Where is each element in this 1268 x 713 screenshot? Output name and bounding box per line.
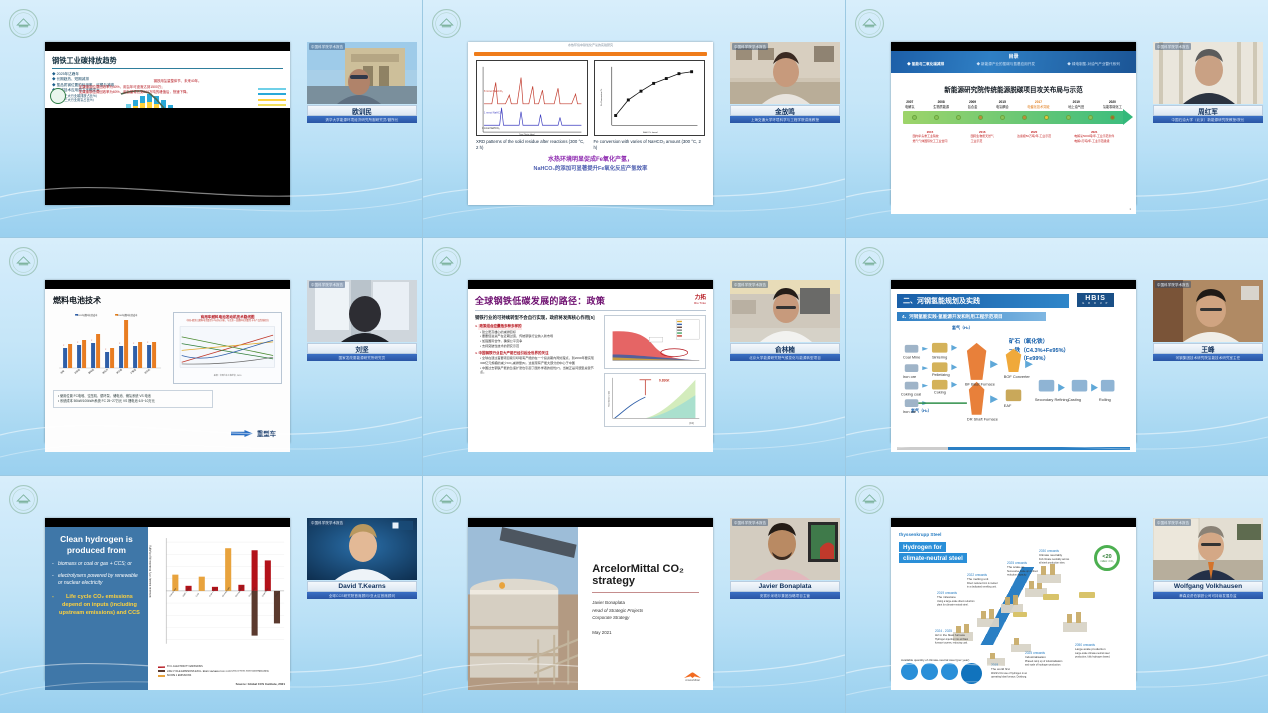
slide-columns: 2020年燃料电池成本2030年燃料电池成本 (53, 312, 282, 384)
speaker-name: 王峰 (1153, 343, 1263, 354)
speaker-affiliation: 国家发改委能源研究所研究员 (307, 354, 417, 361)
svg-text:Steel Demand (Gt): Steel Demand (Gt) (608, 390, 611, 406)
slide-figures: 8 mmol NaHCO₃ 1 mmol NaHCO₃ 0 mmol NaHCO… (468, 56, 713, 136)
svg-text:Coking coal: Coking coal (901, 391, 921, 396)
svg-text:Fe Conversion /%: Fe Conversion /% (600, 89, 603, 106)
svg-text:2: 2 (133, 343, 135, 345)
slide-frame[interactable]: 燃料电池技术 2020年燃料电池成本2030年燃料电池成本 (45, 280, 290, 443)
slide-content: Clean hydrogen is produced from biomass … (45, 527, 290, 690)
university-seal-watermark (854, 484, 885, 515)
university-seal-watermark (854, 8, 885, 39)
slide-figure-column: 0.83Gt Steel Demand (Gt) [13] (604, 315, 706, 431)
video-watermark: 中国科学院学术报告 (309, 519, 345, 526)
video-watermark: 中国科学院学术报告 (732, 281, 768, 288)
author-role: Head of Strategic Projects (592, 607, 699, 615)
speaker-video-tile[interactable]: 中国科学院学术报告 (730, 42, 840, 104)
slide-frame[interactable]: 水热环境中铁氧化产氢的实验研究 8 mmol NaHCO₃ 1 mmol NaH… (468, 42, 713, 205)
slide-page-number: 1 (1129, 207, 1131, 211)
bullet: biomass or coal or gas + CCS; or (52, 561, 141, 569)
timeline-notes: 2015国内牵头重工业院校燃气气体国际化工工业合同 2016国际生物质天然气工业… (891, 124, 1136, 143)
slide-frame[interactable]: Clean hydrogen is produced from biomass … (45, 518, 290, 681)
speaker-name: Javier Bonaplata (730, 581, 840, 592)
chip (921, 663, 938, 680)
timeline-year: 2007电解氢 (905, 100, 915, 109)
svg-text:Sintering: Sintering (932, 354, 947, 359)
slide-content: ArcelorMittal CO₂ strategy Javier Bonapl… (468, 527, 713, 690)
emissions-area-chart (604, 315, 706, 369)
slide-title: 新能源研究院传统能源脱碳项目攻关布局与示范 (891, 84, 1136, 94)
slide-content: 水热环境中铁氧化产氢的实验研究 8 mmol NaHCO₃ 1 mmol NaH… (468, 42, 713, 205)
university-seal-watermark (431, 246, 462, 277)
svg-text:DR Shaft Furnace: DR Shaft Furnace (967, 417, 998, 422)
svg-text:operating blast furnace, Duisb: operating blast furnace, Duisburg. (991, 676, 1027, 679)
speaker-affiliation: 安赛乐米塔尔集团战略项目主管 (730, 592, 840, 599)
panel-p4[interactable]: 燃料电池技术 2020年燃料电池成本2030年燃料电池成本 (0, 238, 423, 476)
svg-text:The world first: The world first (991, 667, 1010, 671)
svg-text:电堆: 电堆 (59, 368, 66, 374)
video-watermark: 中国科学院学术报告 (1155, 519, 1191, 526)
speaker-video-tile[interactable]: 中国科学院学术报告 (1153, 42, 1263, 104)
svg-text:Coal Mine: Coal Mine (903, 354, 920, 359)
svg-text:Secondary Refining: Secondary Refining (1035, 397, 1069, 402)
timeline-year: 2020氢能零碳化工 (1103, 100, 1122, 109)
slide-frame[interactable]: 二、河钢氢能规划及实践 HBIS G R O U P 4．河钢氢能实践-氢能源开… (891, 280, 1136, 443)
panel-p3[interactable]: 目录 氢能与二氧化碳减排 新能源产业的氢碳与氢基应用开发 绿电制氢-对油气产业替… (846, 0, 1268, 238)
slide-body: 钢铁行业的可持续转型不会自行实现，政府将发挥核心作用[5] 政策组合应囊括多种多… (475, 315, 706, 431)
video-watermark: 中国科学院学术报告 (1155, 281, 1191, 288)
speaker-affiliation: 蒂森克虏伯钢铁公司可持续发展总监 (1153, 592, 1263, 599)
speaker-affiliation: 中国石油大学（北京）新能源研究院教授/院长 (1153, 116, 1263, 123)
section-head: 政策组合应囊括多种多样的 (478, 324, 522, 329)
video-watermark: 中国科学院学术报告 (732, 43, 768, 50)
chip (961, 663, 982, 684)
chart-legend: FULL ELECTRICITY EMISSIONS LIFE CYCLE EM… (158, 665, 269, 679)
subsection-title: 4．河钢氢能实践-氢能源开发和利用工程示范项目 (897, 312, 1046, 321)
timeline-year: 2008生物质能源 (933, 100, 949, 109)
panel-p1[interactable]: 钢铁工业碳排放趋势 2025年达峰年 长期趋热、短期减排 氢品质钢位置的利用率、… (0, 0, 423, 238)
speaker-name: 周红军 (1153, 105, 1263, 116)
speaker-video-tile[interactable]: 中国科学院学术报告 (307, 280, 417, 342)
speaker-affiliation: 北京大学能源研究院气候变化与能源转型项目 (730, 354, 840, 361)
svg-text:all steel production sites.: all steel production sites. (1039, 562, 1066, 565)
svg-text:production, fully hydrogen bas: production, fully hydrogen based. (1075, 656, 1111, 659)
speaker-name: 俞林楠 (730, 343, 840, 354)
process-flow-diagram: 氢气（H₂） 矿石（氧化铁） 一铁（C4.3%+Fe95%） 一钢（Fe99%）… (897, 324, 1130, 424)
chart-annotation: 0.83Gt (659, 379, 670, 383)
svg-text:in a dedicated smelting unit.: in a dedicated smelting unit. (967, 586, 997, 589)
section-title: 二、河钢氢能规划及实践 (897, 294, 1069, 308)
svg-text:plant for climate-neutral stee: plant for climate-neutral steel. (937, 604, 969, 607)
video-watermark: 中国科学院学术报告 (309, 281, 345, 288)
video-watermark: 中国科学院学术报告 (309, 43, 345, 50)
slide-frame[interactable]: ArcelorMittal CO₂ strategy Javier Bonapl… (468, 518, 713, 681)
svg-text:2: 2 (105, 349, 107, 351)
menu-title: 目录 (891, 53, 1136, 60)
svg-text:reduction capacity.: reduction capacity. (1007, 574, 1027, 577)
section-item: 全球在通过首要项目吸引呼吸有产能的在一个投资期内同处理点，到2060年要实现30… (475, 356, 599, 366)
speaker-name: 刘坚 (307, 343, 417, 354)
slide-title: 燃料电池技术 (53, 295, 282, 306)
slide-headline: Clean hydrogen is produced from (52, 534, 141, 555)
slide-footnotes: 钢铁用氢量整体节、未来40年。 如果废钢位置回收率为40%，用氢年可逐渐达到15… (71, 79, 284, 96)
speaker-affiliation: 上海交通大学环境科学与工程学院讲席教授 (730, 116, 840, 123)
bullet: electrolysers powered by renewable or nu… (52, 573, 141, 588)
speaker-affiliation: 清华大学能源环境经济研究所副研究员/副所长 (307, 116, 417, 123)
menu-item: 氢能与二氧化碳减排 (907, 62, 944, 67)
university-seal-watermark (431, 484, 462, 515)
arrow-right-icon (231, 430, 253, 437)
slide-title: 钢铁工业碳排放趋势 (52, 56, 283, 69)
timeline-year: 2015电氢耦合 (996, 100, 1009, 109)
tech-roadmap-figure: 商用车燃料电池发动机技术路线图 中国+欧美日燃料电池重型卡车对标分析，与北美一流… (173, 312, 282, 384)
menu-items: 氢能与二氧化碳减排 新能源产业的氢碳与氢基应用开发 绿电制氢-对油气产业替代系列 (891, 62, 1136, 67)
chip (901, 663, 918, 680)
svg-text:Casting: Casting (1068, 397, 1081, 402)
divider (475, 310, 706, 311)
svg-text:2: 2 (77, 342, 79, 344)
university-seal-watermark (431, 8, 462, 39)
lead-paragraph: 钢铁行业的可持续转型不会自行实现，政府将发挥核心作用[5] (475, 315, 599, 321)
fe-conversion-plot: Fe Conversion /% NaHCO₃ /mmol (594, 60, 706, 136)
steel-demand-chart: 0.83Gt Steel Demand (Gt) [13] (604, 373, 706, 427)
slide-notes: 使用位置 FC电堆、空压机、循环泵、储电池、储氢系统 VS 电池 系统成本 50… (53, 390, 213, 408)
chart-source: Source: Global CCS Institute, 2021 (236, 682, 285, 686)
roadmap-subtitle: 中国+欧美日燃料电池重型卡车对标分析，与北美一流燃料电池重型卡车产品性能相当 (174, 320, 281, 323)
slide-callout: 重型车 (231, 429, 276, 438)
svg-text:The scale-up: The scale-up (1007, 565, 1025, 569)
caption-left: XRD patterns of the solid residue after … (476, 139, 588, 151)
svg-text:H2 in the blast furnace: H2 in the blast furnace (935, 633, 965, 637)
author-dept: Corporate Strategy (592, 614, 699, 622)
speaker-affiliation: 河钢集团技术研究院氢能技术研究室主任 (1153, 354, 1263, 361)
slide-left-panel: Clean hydrogen is produced from biomass … (45, 527, 148, 690)
svg-text:2020年燃料电池成本: 2020年燃料电池成本 (77, 313, 98, 317)
university-seal-watermark (854, 246, 885, 277)
video-watermark: 中国科学院学术报告 (1155, 43, 1191, 50)
slide-menu-header: 目录 氢能与二氧化碳减排 新能源产业的氢碳与氢基应用开发 绿电制氢-对油气产业替… (891, 51, 1136, 73)
slide-frame[interactable]: thyssenkrupp Steel Hydrogen for climate-… (891, 518, 1136, 681)
svg-text:Large-scale production: Large-scale production (1075, 647, 1106, 651)
slide-content: 燃料电池技术 2020年燃料电池成本2030年燃料电池成本 (45, 289, 290, 452)
svg-text:2: 2 (147, 342, 149, 344)
video-watermark: 中国科学院学术报告 (732, 519, 768, 526)
panel-p5[interactable]: 力拓 Rio Tinto 全球钢铁低碳发展的路径：政策 钢铁行业的可持续转型不会… (423, 238, 846, 476)
section-head: 中国钢铁行业巨大产能已经引起全世界的关注 (478, 351, 548, 355)
svg-text:Industrialisation: Industrialisation (1025, 655, 1046, 659)
svg-text:BOF Converter: BOF Converter (1004, 374, 1031, 379)
speaker-video-tile[interactable]: 中国科学院学术报告 (1153, 518, 1263, 580)
slide-frame[interactable]: 钢铁工业碳排放趋势 2025年达峰年 长期趋热、短期减排 氢品质钢位置的利用率、… (45, 42, 290, 205)
cover-text: ArcelorMittal CO₂ strategy Javier Bonapl… (578, 527, 713, 690)
panel-p2[interactable]: 水热环境中铁氧化产氢的实验研究 8 mmol NaHCO₃ 1 mmol NaH… (423, 0, 846, 238)
slide-title: ArcelorMittal CO₂ strategy (592, 563, 699, 587)
arcelormittal-mark-icon (684, 672, 701, 678)
slide-bullets: biomass or coal or gas + CCS; or electro… (52, 561, 141, 617)
svg-text:The milestone: The milestone (937, 595, 956, 599)
university-seal-watermark (8, 8, 39, 39)
svg-text:1 mmol NaHCO₃: 1 mmol NaHCO₃ (484, 112, 503, 115)
slide-conclusion-2: NaHCO₃的添加可显著提升Fe氧化反应产氢效率 (468, 164, 713, 172)
svg-text:8 mmol NaHCO₃: 8 mmol NaHCO₃ (484, 90, 503, 93)
university-seal-watermark (8, 484, 39, 515)
university-seal-watermark (8, 246, 39, 277)
footnote: 如果废钢位置回收率为60%，用氢量将达到200万吨的峰值后，快速下降。 (71, 90, 284, 96)
menu-item: 新能源产业的氢碳与氢基应用开发 (976, 62, 1035, 67)
highlight-text: Life cycle CO₂ emissions depend on input… (52, 593, 141, 617)
presentation-grid: 钢铁工业碳排放趋势 2025年达峰年 长期趋热、短期减排 氢品质钢位置的利用率、… (0, 0, 1268, 713)
figure-captions: XRD patterns of the solid residue after … (468, 136, 713, 151)
speaker-affiliation: 全球CCS研究院首席顾问/亚太区首席顾问 (307, 592, 417, 599)
slide-title: 全球钢铁低碳发展的路径：政策 (475, 294, 706, 307)
svg-text:and scale of hydrogen producti: and scale of hydrogen production. (1025, 664, 1061, 667)
timeline-years: 2007电解氢 2008生物质能源 2009氨合金 2015电氢耦合 2017电… (891, 94, 1136, 109)
slide-frame[interactable]: 目录 氢能与二氧化碳减排 新能源产业的氢碳与氢基应用开发 绿电制氢-对油气产业替… (891, 42, 1136, 205)
arrow-tip (1123, 109, 1133, 125)
speaker-video-tile[interactable]: 中国科学院学术报告 (1153, 280, 1263, 342)
slide-header-note: 水热环境中铁氧化产氢的实验研究 (468, 43, 713, 47)
timeline-year: 2017电催化技术突破 (1027, 100, 1049, 109)
slide-date: May 2021 (592, 630, 699, 635)
note-line: 系统成本 50kW/100kWh系统 FC 25~27万元 VS 锂电池 6.5… (58, 399, 208, 404)
svg-text:2: 2 (91, 340, 93, 342)
slide-progress-bar (897, 447, 1130, 450)
speaker-video-tile[interactable]: 中国科学院学术报告 (730, 280, 840, 342)
svg-text:2: 2 (119, 343, 121, 345)
timeline-note: 2015国内牵头重工业院校燃气气体国际化工工业合同 (913, 130, 948, 143)
chips-caption: Available quantity of climate-neutral st… (901, 658, 969, 662)
arcelormittal-logo: ArcelorMittal (684, 672, 701, 682)
callout-text: 重型车 (257, 429, 276, 438)
author-block: Javier Bonaplata Head of Strategic Proje… (592, 599, 699, 622)
svg-text:NaHCO₃ /mmol: NaHCO₃ /mmol (642, 132, 657, 134)
slide-frame[interactable]: 力拓 Rio Tinto 全球钢铁低碳发展的路径：政策 钢铁行业的可持续转型不会… (468, 280, 713, 443)
author-name: Javier Bonaplata (592, 600, 625, 605)
slide-text-column: 钢铁行业的可持续转型不会自行实现，政府将发挥核心作用[5] 政策组合应囊括多种多… (475, 315, 599, 431)
svg-text:furnace tuyeres, reducing coal: furnace tuyeres, reducing coal. (935, 642, 968, 645)
panel-p8[interactable]: ArcelorMittal CO₂ strategy Javier Bonapl… (423, 476, 846, 713)
slide-content: 钢铁工业碳排放趋势 2025年达峰年 长期趋热、短期减排 氢品质钢位置的利用率、… (45, 51, 290, 108)
panel-p9[interactable]: thyssenkrupp Steel Hydrogen for climate-… (846, 476, 1268, 713)
slide-content: 力拓 Rio Tinto 全球钢铁低碳发展的路径：政策 钢铁行业的可持续转型不会… (468, 289, 713, 452)
roadmap-title: 商用车燃料电池发动机技术路线图 (174, 313, 281, 320)
slide-content: 目录 氢能与二氧化碳减排 新能源产业的氢碳与氢基应用开发 绿电制氢-对油气产业替… (891, 51, 1136, 214)
timeline-note: 2021电解氢5000吨/年-工业示范条件电解1万吨/年-工业示范级级 (1074, 130, 1114, 143)
svg-text:Coal: Coal (196, 593, 200, 598)
speaker-video-tile[interactable]: 中国科学院学术报告 (307, 42, 417, 104)
section-item: 中国过去钢铁产能的急速扩张也引起了国外学者的担忧[7]，当前正是问题型关键节点。 (475, 366, 599, 376)
cover-photo (468, 527, 578, 690)
divider (592, 592, 699, 593)
hbis-logo: HBIS G R O U P (1077, 293, 1114, 307)
fuel-cell-cost-chart: 2020年燃料电池成本2030年燃料电池成本 (53, 312, 165, 384)
speaker-name: David T.Kearns (307, 581, 417, 592)
xrd-plot: 8 mmol NaHCO₃ 1 mmol NaHCO₃ 0 mmol NaHCO… (476, 60, 588, 136)
slide-content: 二、河钢氢能规划及实践 HBIS G R O U P 4．河钢氢能实践-氢能源开… (891, 289, 1136, 452)
section-item: 支持突破性技术的研究示范 (475, 344, 599, 349)
chart-ylabel: Emissions Intensity of H₂ Production (kg… (150, 545, 152, 597)
svg-text:Climate neutrality: Climate neutrality (1039, 553, 1063, 557)
svg-text:Two-Theta (deg): Two-Theta (deg) (519, 133, 535, 135)
svg-text:2: 2 (63, 345, 65, 347)
svg-text:2030年燃料电池成本: 2030年燃料电池成本 (117, 313, 138, 317)
svg-text:Rolling: Rolling (1099, 397, 1111, 402)
slide-chart-panel: Emissions Intensity of H₂ Production (kg… (148, 527, 290, 690)
caption-right: Fe conversion with varies of NaHCO₃ amou… (594, 139, 706, 151)
slide-content: thyssenkrupp Steel Hydrogen for climate-… (891, 527, 1136, 690)
svg-text:催化剂: 催化剂 (101, 368, 109, 375)
timeline-dots (903, 111, 1124, 124)
capacity-chips (901, 663, 982, 684)
timeline-note: 2016国际生物质天然气工业示范 (971, 130, 994, 143)
speaker-video-tile[interactable]: 中国科学院学术报告 (307, 518, 417, 580)
svg-text:Coking: Coking (934, 389, 946, 394)
svg-text:Pelletizing: Pelletizing (932, 372, 950, 377)
svg-text:Iron ore: Iron ore (903, 409, 916, 414)
speaker-name: Wolfgang Volkhausen (1153, 581, 1263, 592)
menu-item: 绿电制氢-对油气产业替代系列 (1067, 62, 1120, 67)
rio-tinto-logo: 力拓 Rio Tinto (694, 293, 706, 305)
slide-conclusion-1: 水热环境明显促成Fe氧化产氢， (468, 154, 713, 163)
svg-text:Iron ore: Iron ore (903, 374, 916, 379)
svg-text:The melting unit: The melting unit (967, 577, 989, 581)
panel-p7[interactable]: Clean hydrogen is produced from biomass … (0, 476, 423, 713)
reference-tag: [13] (690, 423, 694, 425)
timeline-note: 2020达康级50万吨/年-工业示范 (1017, 130, 1051, 143)
timeline-year: 2009氨合金 (968, 100, 978, 109)
timeline-arrow (903, 111, 1124, 124)
panel-p6[interactable]: 二、河钢氢能规划及实践 HBIS G R O U P 4．河钢氢能实践-氢能源开… (846, 238, 1268, 476)
speaker-name: 金放鸣 (730, 105, 840, 116)
svg-text:BF Blast Furnace: BF Blast Furnace (965, 382, 995, 387)
speaker-name: 欧训民 (307, 105, 417, 116)
svg-text:EAF: EAF (1004, 403, 1012, 408)
svg-text:0 mmol NaHCO₃: 0 mmol NaHCO₃ (482, 128, 499, 130)
chip (941, 663, 958, 680)
timeline-year: 2019地上油气田 (1068, 100, 1084, 109)
speaker-video-tile[interactable]: 中国科学院学术报告 (730, 518, 840, 580)
